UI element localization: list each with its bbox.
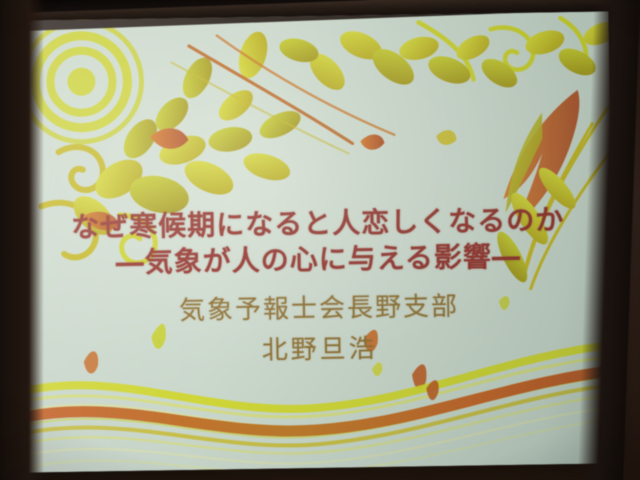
left-frame-shadow bbox=[0, 0, 44, 480]
slide-organization: 気象予報士会長野支部 bbox=[25, 283, 614, 329]
slide-text-block: なぜ寒候期になると人恋しくなるのか ―気象が人の心に与える影響― 気象予報士会長… bbox=[20, 11, 615, 472]
presentation-slide: なぜ寒候期になると人恋しくなるのか ―気象が人の心に与える影響― 気象予報士会長… bbox=[20, 11, 615, 472]
slide-title-line-2: ―気象が人の心に与える影響― bbox=[24, 233, 613, 282]
screenshot-root: なぜ寒候期になると人恋しくなるのか ―気象が人の心に与える影響― 気象予報士会長… bbox=[0, 0, 640, 480]
slide-presenter-name: 北野旦浩 bbox=[25, 324, 614, 370]
projection-screen: なぜ寒候期になると人恋しくなるのか ―気象が人の心に与える影響― 気象予報士会長… bbox=[20, 11, 615, 472]
